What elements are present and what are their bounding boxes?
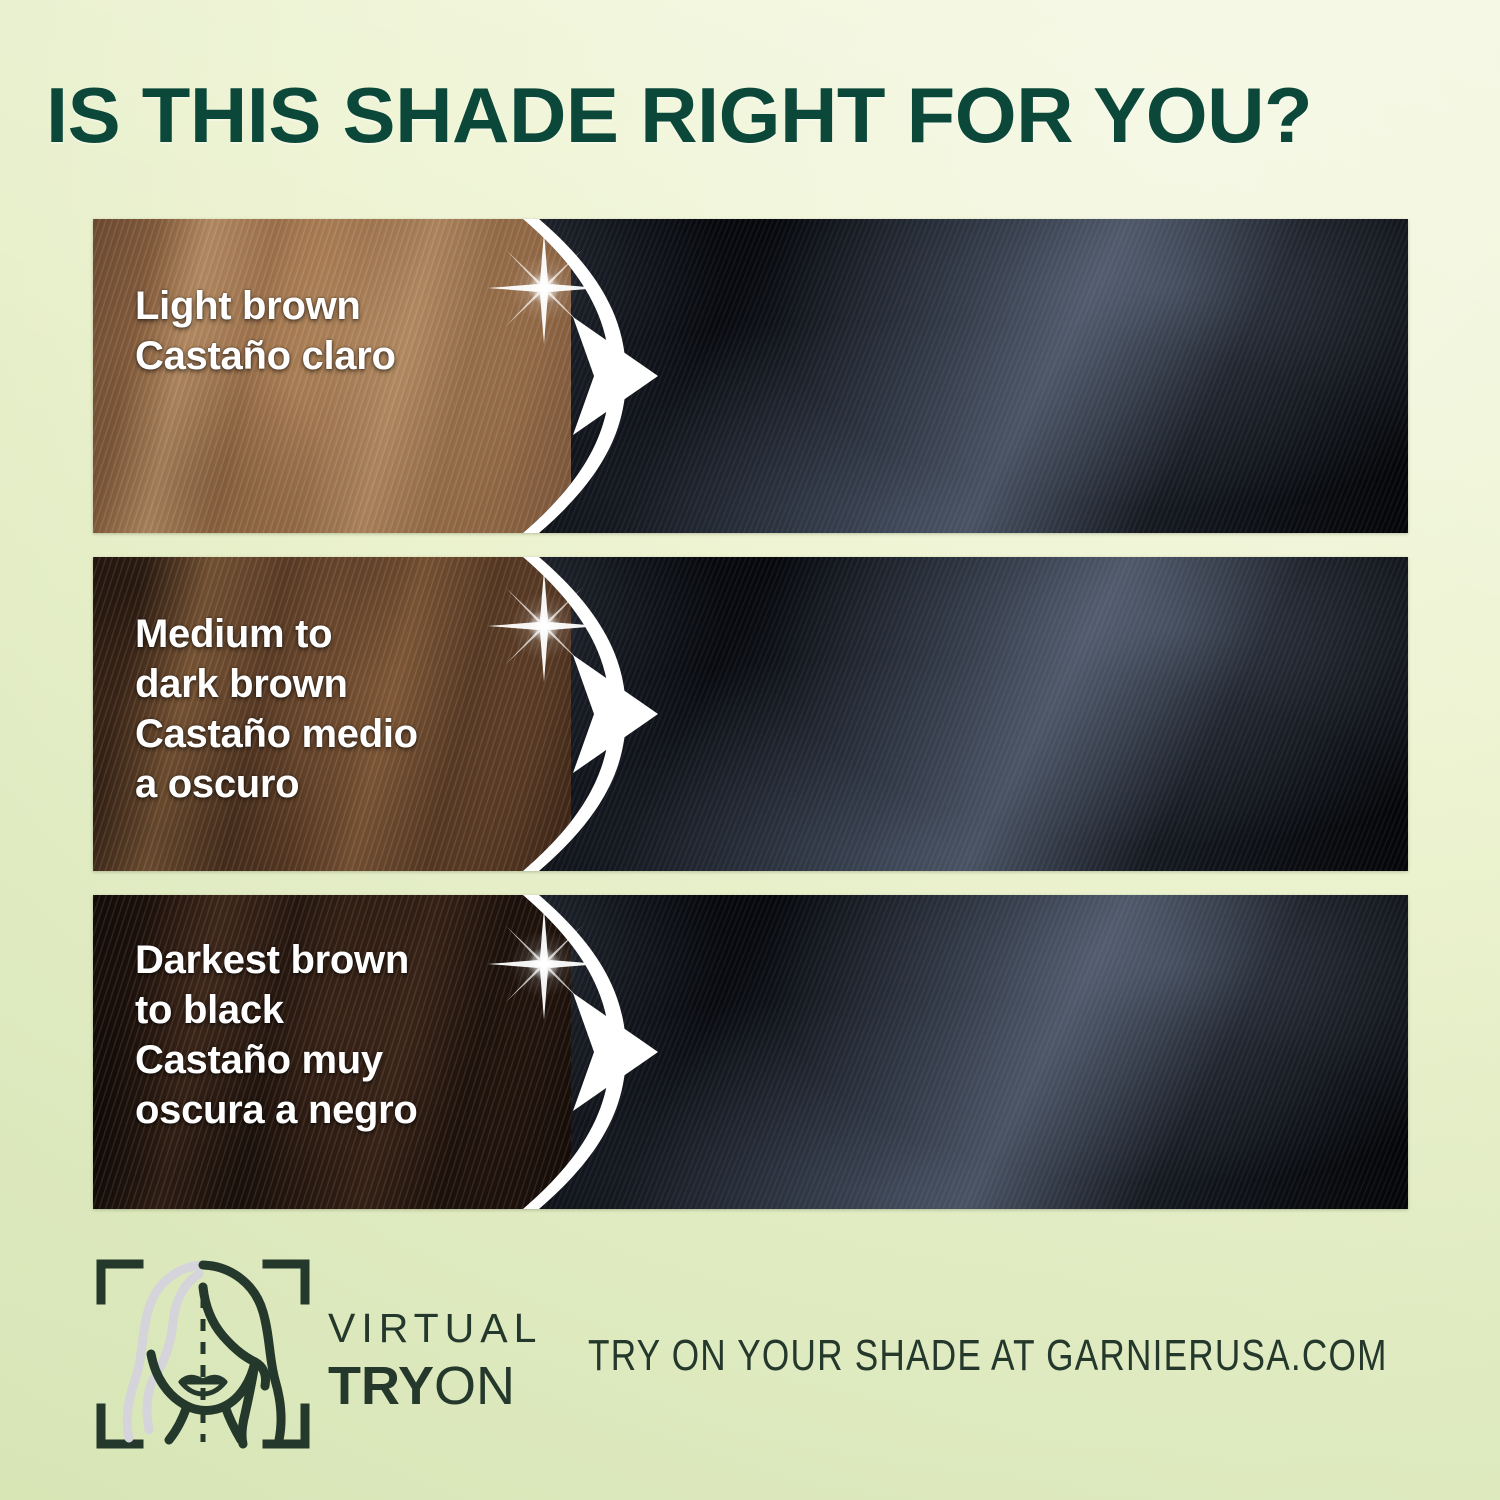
virtual-try-on-wordmark: VIRTUAL TRYON	[328, 1305, 542, 1415]
tagline: TRY ON YOUR SHADE AT GARNIERUSA.COM	[588, 1330, 1388, 1382]
bracket-bottom-right	[267, 1408, 305, 1444]
shade-panel-medium-dark-brown[interactable]: Medium to dark brown Castaño medio a osc…	[93, 557, 1408, 871]
bracket-top-right	[267, 1264, 305, 1300]
shade-label: Medium to dark brown Castaño medio a osc…	[135, 609, 418, 809]
bracket-top-left	[101, 1264, 139, 1300]
page-title: IS THIS SHADE RIGHT FOR YOU?	[46, 72, 1494, 158]
shade-panel-darkest-brown-to-black[interactable]: Darkest brown to black Castaño muy oscur…	[93, 895, 1408, 1209]
wordmark-virtual: VIRTUAL	[328, 1305, 542, 1351]
shade-label: Light brown Castaño claro	[135, 281, 396, 381]
wordmark-tryon: TRYON	[328, 1357, 542, 1415]
shade-label: Darkest brown to black Castaño muy oscur…	[135, 935, 418, 1135]
virtual-try-on-face-scan-icon[interactable]	[95, 1254, 311, 1454]
shade-panel-light-brown[interactable]: Light brown Castaño claro	[93, 219, 1408, 533]
wordmark-on: ON	[434, 1356, 515, 1416]
wordmark-try: TRY	[328, 1356, 434, 1416]
